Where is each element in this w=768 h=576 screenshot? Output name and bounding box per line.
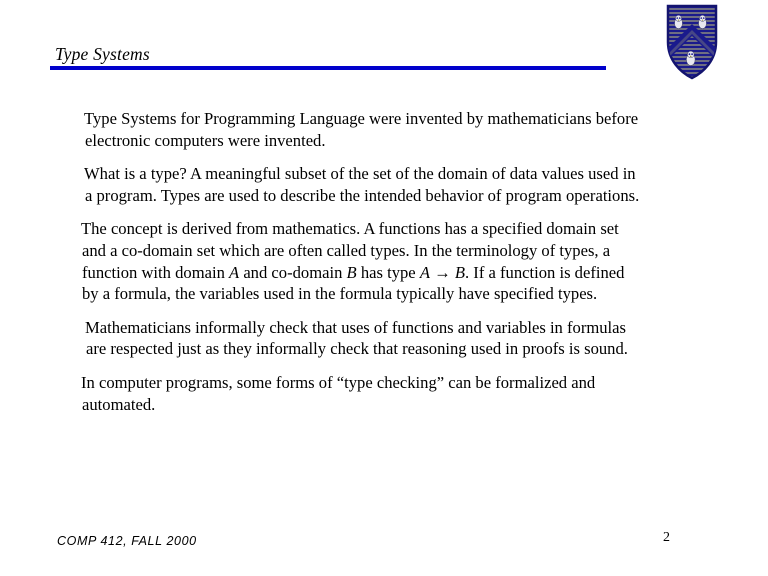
page-title: Type Systems xyxy=(55,44,150,64)
page-number: 2 xyxy=(663,530,670,546)
right-arrow-icon: → xyxy=(430,263,455,282)
body-paragraph-4: Mathematicians informally check that use… xyxy=(86,317,638,360)
rice-shield-logo-icon xyxy=(666,4,718,80)
math-variable-b: B xyxy=(347,263,357,282)
body-paragraph-3: The concept is derived from mathematics.… xyxy=(82,218,644,304)
paragraph-3-mid-2: has type xyxy=(357,263,420,282)
paragraph-3-mid-1: and co-domain xyxy=(239,263,346,282)
slide-body: Type Systems for Programming Language we… xyxy=(0,108,768,427)
body-paragraph-1: Type Systems for Programming Language we… xyxy=(85,108,641,151)
footer-course-label: COMP 412, FALL 2000 xyxy=(57,534,197,548)
body-paragraph-5: In computer programs, some forms of “typ… xyxy=(82,372,642,415)
math-variable-a: A xyxy=(229,263,239,282)
body-paragraph-2: What is a type? A meaningful subset of t… xyxy=(85,163,641,206)
math-variable-b-2: B xyxy=(455,263,465,282)
slide: Type Systems xyxy=(0,0,768,576)
title-underline-rule xyxy=(50,66,606,70)
math-variable-a-2: A xyxy=(420,263,430,282)
